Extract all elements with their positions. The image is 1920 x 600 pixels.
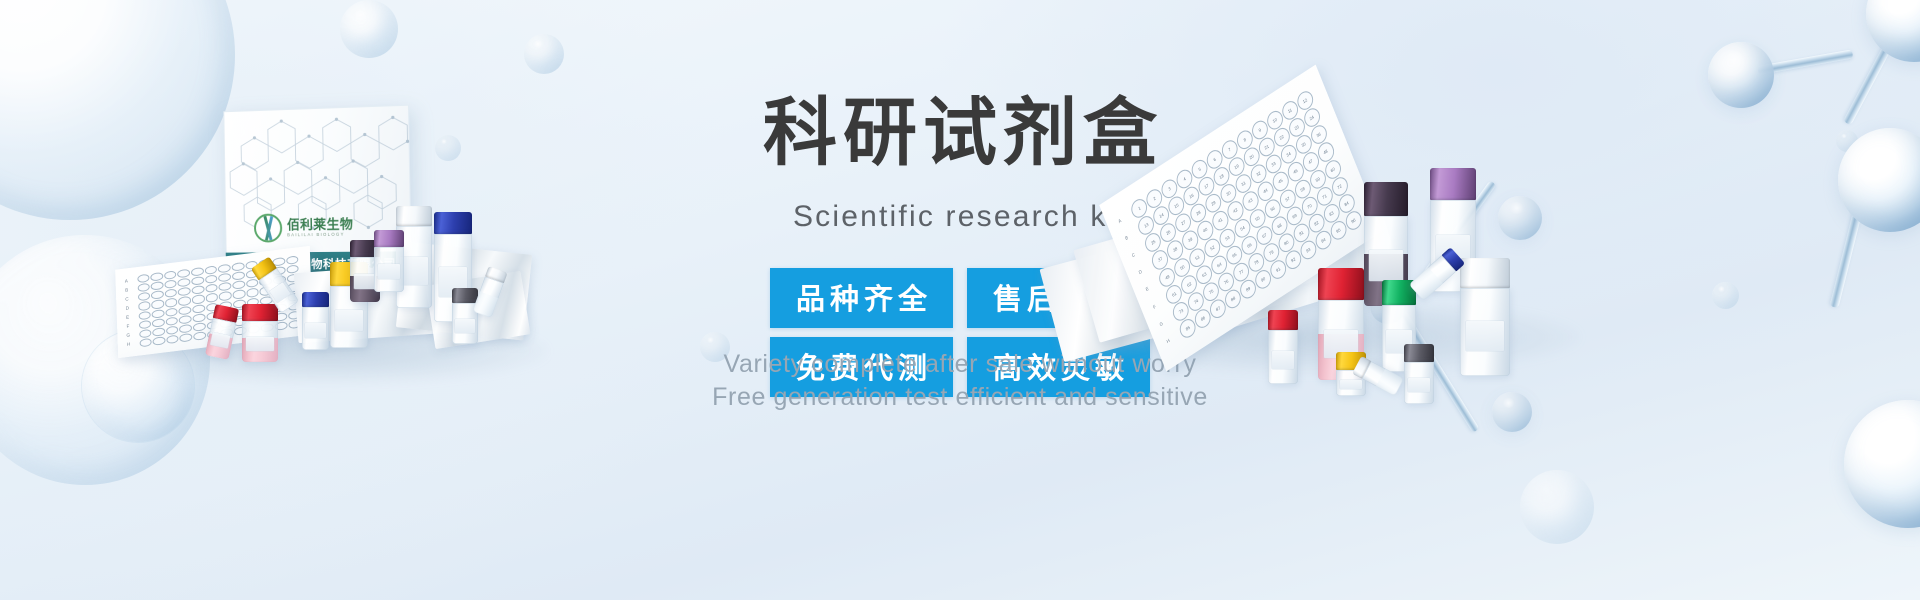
plate-well	[232, 271, 245, 281]
plate-row-label: B	[1125, 235, 1129, 241]
plate-well	[152, 318, 165, 328]
molecule-node	[1844, 400, 1920, 528]
plate-row-label: C	[1131, 252, 1136, 259]
plate-well	[166, 334, 179, 344]
vial-cap	[452, 288, 478, 303]
plate-well	[192, 285, 205, 295]
plate-well	[192, 304, 205, 314]
vial-body	[1404, 362, 1434, 404]
plate-well	[178, 278, 191, 288]
plate-row-label: F	[1152, 303, 1156, 309]
brand-name-en: BAILILAI BIOLOGY	[287, 232, 353, 237]
vial-cap	[1364, 182, 1408, 216]
plate-row-label: A	[1118, 218, 1122, 224]
plate-row-label: C	[125, 296, 128, 301]
plate-row-label: G	[1159, 320, 1164, 327]
vial-cap	[1430, 168, 1476, 200]
bubble-decor	[435, 135, 461, 161]
plate-well	[193, 322, 206, 332]
vial-purple	[374, 230, 404, 292]
plate-well	[246, 279, 259, 289]
vial-cap	[302, 292, 329, 307]
plate-row-label: D	[126, 305, 129, 310]
plate-row-label: A	[125, 278, 128, 283]
plate-well	[137, 283, 150, 293]
plate-well	[191, 267, 204, 277]
bubble-decor	[340, 0, 398, 58]
page-title: 科研试剂盒	[757, 96, 1163, 170]
tagline-line-2: Free generation test efficient and sensi…	[560, 381, 1360, 414]
plate-well	[218, 264, 231, 274]
plate-well	[205, 284, 218, 294]
vial-red-pink	[242, 304, 278, 362]
bottle-body	[1460, 288, 1510, 376]
plate-well	[152, 309, 165, 319]
vial-cap	[374, 230, 404, 247]
vial-body	[302, 307, 329, 350]
feature-badge-variety[interactable]: 品种齐全	[770, 268, 953, 328]
plate-well	[138, 301, 151, 311]
molecule-node	[1866, 0, 1920, 62]
vial-gray-cap-small	[1404, 344, 1434, 404]
vial-cap	[1318, 268, 1364, 300]
plate-well	[233, 289, 246, 299]
vial-blue-small	[302, 292, 329, 350]
bubble-decor	[0, 0, 235, 220]
molecule-node	[1492, 392, 1532, 432]
bottle-cap	[1460, 258, 1510, 288]
plate-well	[166, 325, 179, 335]
plate-well	[165, 298, 178, 308]
plate-row-label: E	[126, 314, 129, 319]
vial-body	[1268, 330, 1298, 384]
bottle-cap	[434, 212, 472, 234]
plate-well	[246, 288, 259, 298]
vial-body	[374, 247, 404, 292]
plate-well	[166, 316, 179, 326]
plate-well	[178, 287, 191, 297]
plate-well	[219, 291, 232, 301]
plate-well	[179, 324, 192, 334]
brand-logo: 佰利莱生物 BAILILAI BIOLOGY	[254, 212, 354, 242]
vial-red-small	[1268, 310, 1298, 384]
plate-well	[232, 262, 245, 272]
plate-well	[179, 314, 192, 324]
plate-well	[164, 279, 177, 289]
plate-row-label: D	[1138, 269, 1143, 276]
plate-well	[180, 333, 193, 343]
plate-well	[193, 313, 206, 323]
plate-row-label: F	[126, 323, 129, 328]
plate-well	[206, 293, 219, 303]
dna-helix-icon	[254, 214, 283, 243]
plate-well	[165, 289, 178, 299]
plate-well	[286, 255, 299, 265]
vial-cap	[1268, 310, 1298, 330]
plate-well	[218, 273, 231, 283]
molecule-node	[1708, 42, 1774, 108]
plate-well	[165, 307, 178, 317]
plate-well	[164, 270, 177, 280]
plate-row-label: E	[1145, 286, 1149, 292]
vial-cap	[242, 304, 278, 321]
plate-well	[137, 274, 150, 284]
plate-well	[179, 305, 192, 315]
plate-well	[193, 331, 206, 341]
page-subtitle: Scientific research kit	[793, 200, 1127, 234]
molecule-node	[1838, 128, 1920, 232]
plate-well	[150, 272, 163, 282]
plate-well	[205, 265, 218, 275]
plate-well	[151, 290, 164, 300]
plate-well	[191, 276, 204, 286]
promo-banner: 佰利莱生物 BAILILAI BIOLOGY 上海佰利莱生物科技有限公司 SHA…	[0, 0, 1920, 600]
plate-row-label: B	[125, 287, 128, 292]
bottle-white-large	[1460, 258, 1510, 376]
plate-well	[205, 274, 218, 284]
bubble-decor	[524, 34, 564, 74]
plate-well	[151, 281, 164, 291]
plate-row-label: G	[126, 332, 130, 337]
plate-row-label: H	[127, 342, 130, 347]
vial-cap	[1404, 344, 1434, 362]
bottle-cap	[396, 206, 432, 226]
plate-well	[232, 280, 245, 290]
plate-well	[138, 319, 151, 329]
plate-well	[138, 310, 151, 320]
bubble-decor	[1712, 282, 1739, 309]
plate-well	[153, 336, 166, 346]
plate-well	[219, 282, 232, 292]
plate-well	[152, 327, 165, 337]
plate-well	[139, 338, 152, 348]
plate-row-labels: ABCDEFGH	[118, 275, 136, 349]
plate-well	[192, 294, 205, 304]
molecule-node	[1498, 196, 1542, 240]
plate-well	[177, 269, 190, 279]
plate-well	[178, 296, 191, 306]
vial-gray-cap	[452, 288, 478, 344]
plate-well	[139, 329, 152, 339]
plate-row-label: H	[1166, 337, 1171, 344]
brand-name-cn: 佰利莱生物	[287, 217, 354, 231]
vial-body	[242, 321, 278, 362]
plate-well	[137, 292, 150, 302]
plate-well	[151, 299, 164, 309]
bubble-decor	[1520, 470, 1594, 544]
